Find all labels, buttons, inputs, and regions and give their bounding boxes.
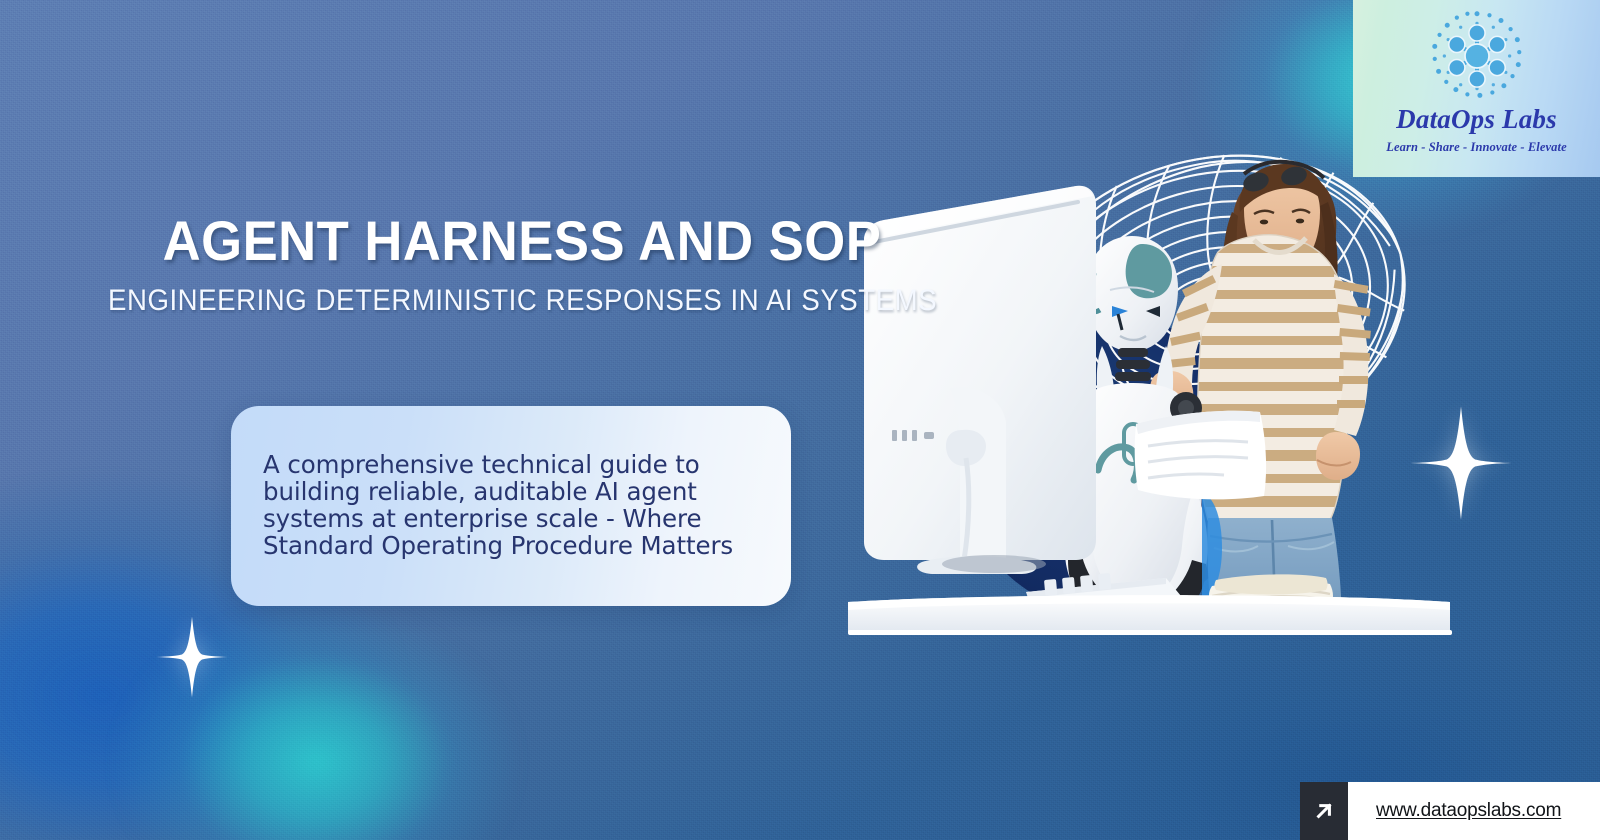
paper-document bbox=[1135, 411, 1266, 500]
hero-text-block: AGENT HARNESS AND SOP ENGINEERING DETERM… bbox=[72, 212, 972, 318]
page-title: AGENT HARNESS AND SOP bbox=[99, 212, 945, 270]
page-subtitle: ENGINEERING DETERMINISTIC RESPONSES IN A… bbox=[108, 284, 936, 318]
white-desk bbox=[848, 595, 1450, 632]
sparkle-star-left bbox=[150, 615, 234, 699]
arrow-up-right-icon bbox=[1300, 782, 1348, 840]
description-text: A comprehensive technical guide to build… bbox=[231, 452, 791, 560]
sparkle-star-right bbox=[1402, 404, 1520, 522]
banner-root: AGENT HARNESS AND SOP ENGINEERING DETERM… bbox=[0, 0, 1600, 840]
website-link[interactable]: www.dataopslabs.com bbox=[1348, 782, 1600, 840]
website-url-text: www.dataopslabs.com bbox=[1376, 800, 1561, 822]
network-nodes-icon bbox=[1428, 8, 1526, 104]
footer-url-bar[interactable]: www.dataopslabs.com bbox=[1300, 782, 1600, 840]
brand-logo-panel[interactable]: DataOps Labs Learn - Share - Innovate - … bbox=[1353, 0, 1600, 177]
brand-tagline: Learn - Share - Innovate - Elevate bbox=[1386, 140, 1566, 155]
brand-name: DataOps Labs bbox=[1396, 106, 1557, 133]
description-card: A comprehensive technical guide to build… bbox=[231, 406, 791, 606]
